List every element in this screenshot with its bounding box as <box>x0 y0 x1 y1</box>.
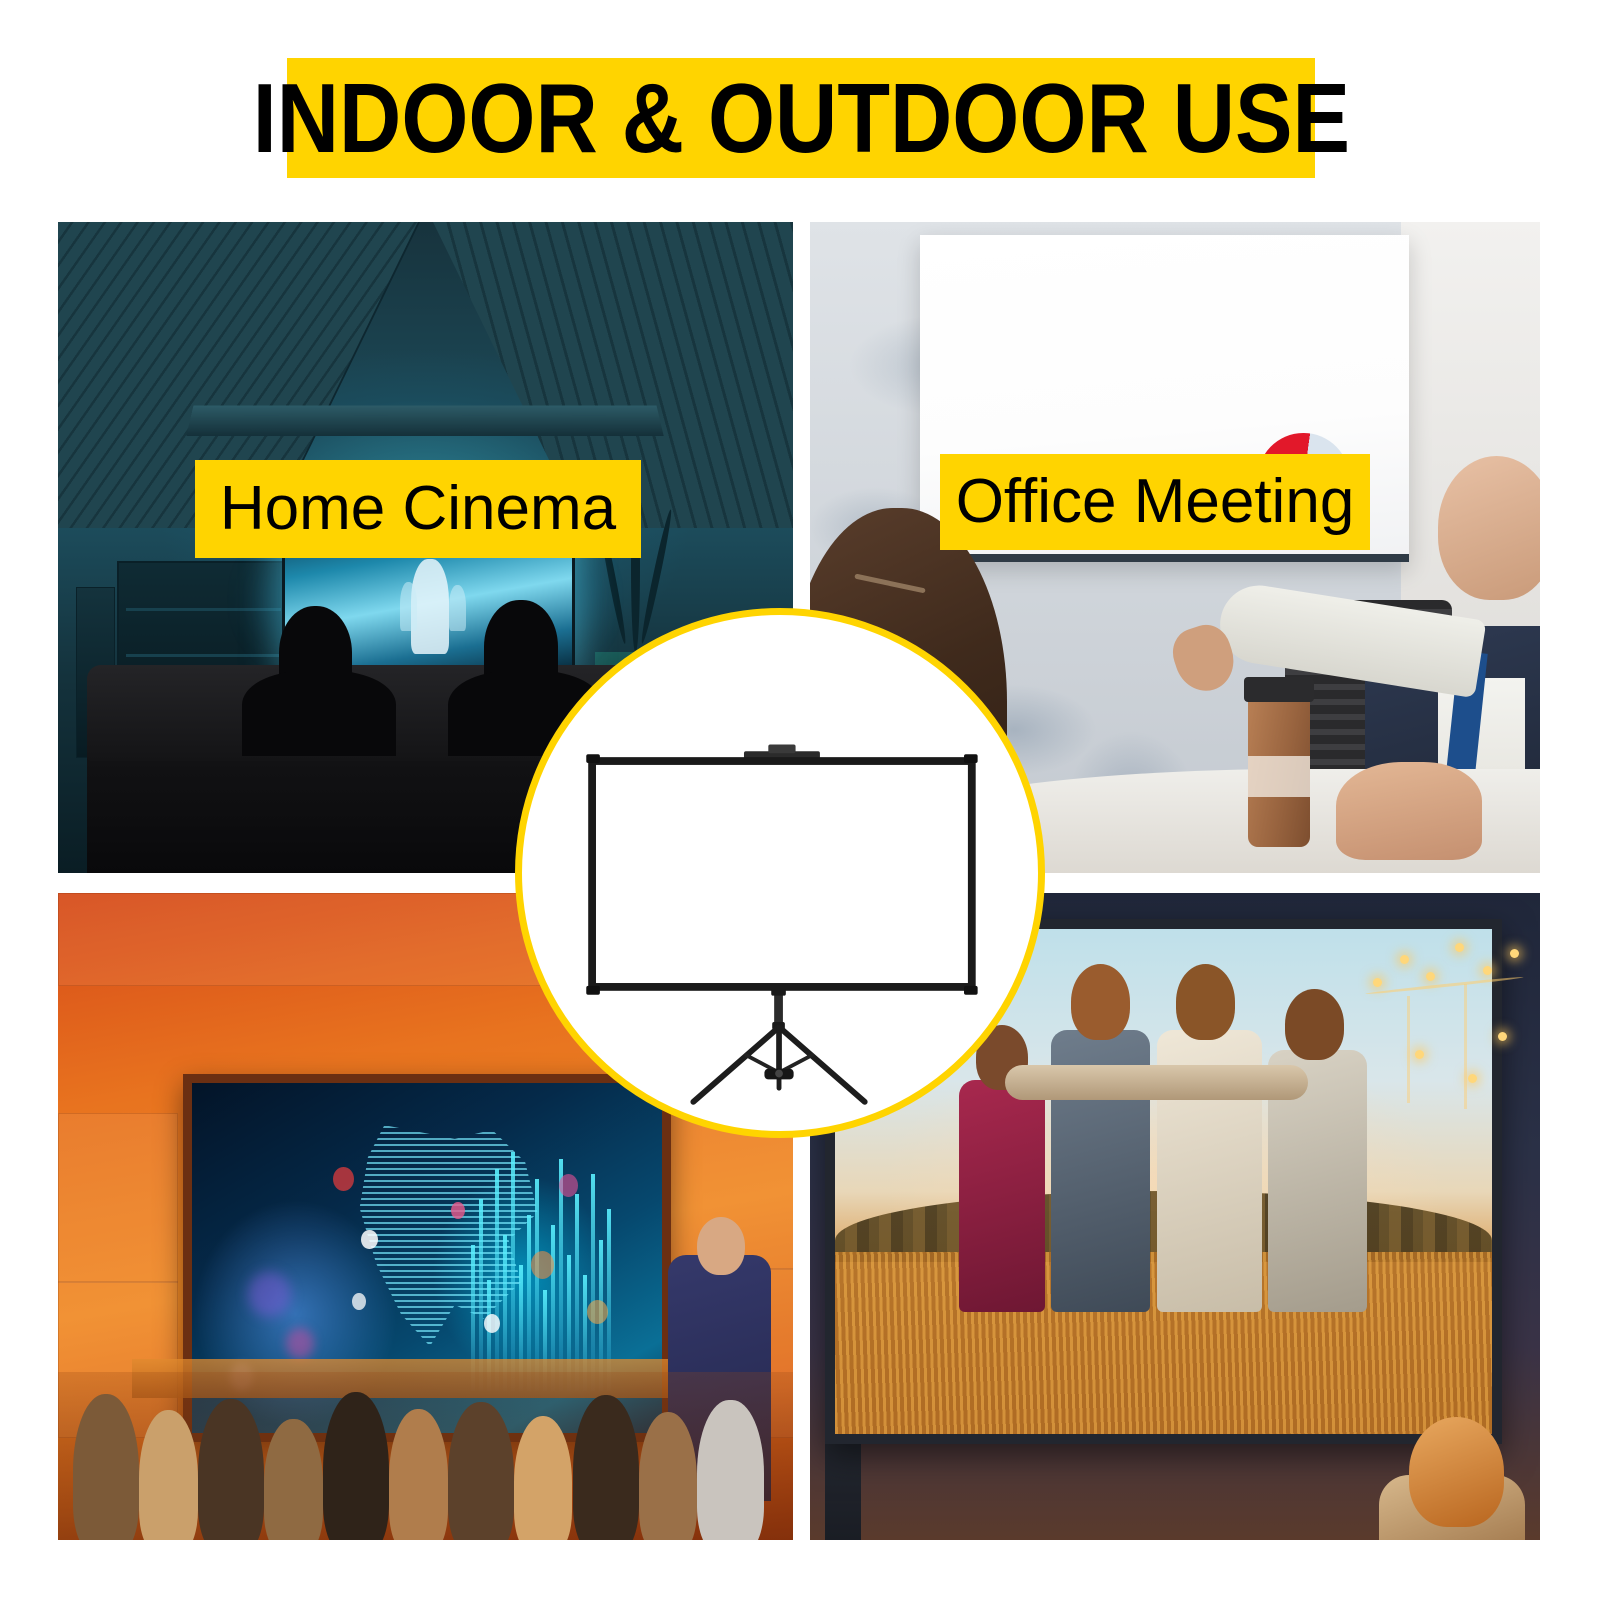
friend-head <box>1071 964 1130 1040</box>
string-lights <box>1350 919 1540 1217</box>
center-pole <box>774 991 783 1026</box>
friend-head <box>1176 964 1235 1040</box>
page-title: INDOOR & OUTDOOR USE <box>252 69 1349 167</box>
resting-hand <box>1336 762 1482 860</box>
ceiling-beam <box>187 406 665 436</box>
label-text: Home Cinema <box>220 478 616 540</box>
label-office-meeting: Office Meeting <box>940 454 1370 550</box>
product-hero-circle <box>515 608 1045 1138</box>
viewer-shoulders <box>242 671 396 756</box>
coffee-cup <box>1248 691 1310 847</box>
manager-head <box>1438 456 1540 599</box>
label-home-cinema: Home Cinema <box>195 460 641 558</box>
screen-surface <box>596 765 968 983</box>
title-banner: INDOOR & OUTDOOR USE <box>287 58 1315 178</box>
screen-top-knob <box>768 744 795 753</box>
presenter-head <box>697 1217 745 1275</box>
linked-arms <box>1005 1065 1307 1100</box>
tripod-projector-screen-illustration <box>522 615 1038 1131</box>
infographic-canvas: INDOOR & OUTDOOR USE <box>0 0 1600 1600</box>
label-text: Office Meeting <box>956 471 1355 533</box>
hair-clip <box>854 574 926 594</box>
friend-head <box>1285 989 1344 1060</box>
audience <box>58 1372 793 1540</box>
viewer-head <box>1409 1417 1504 1527</box>
